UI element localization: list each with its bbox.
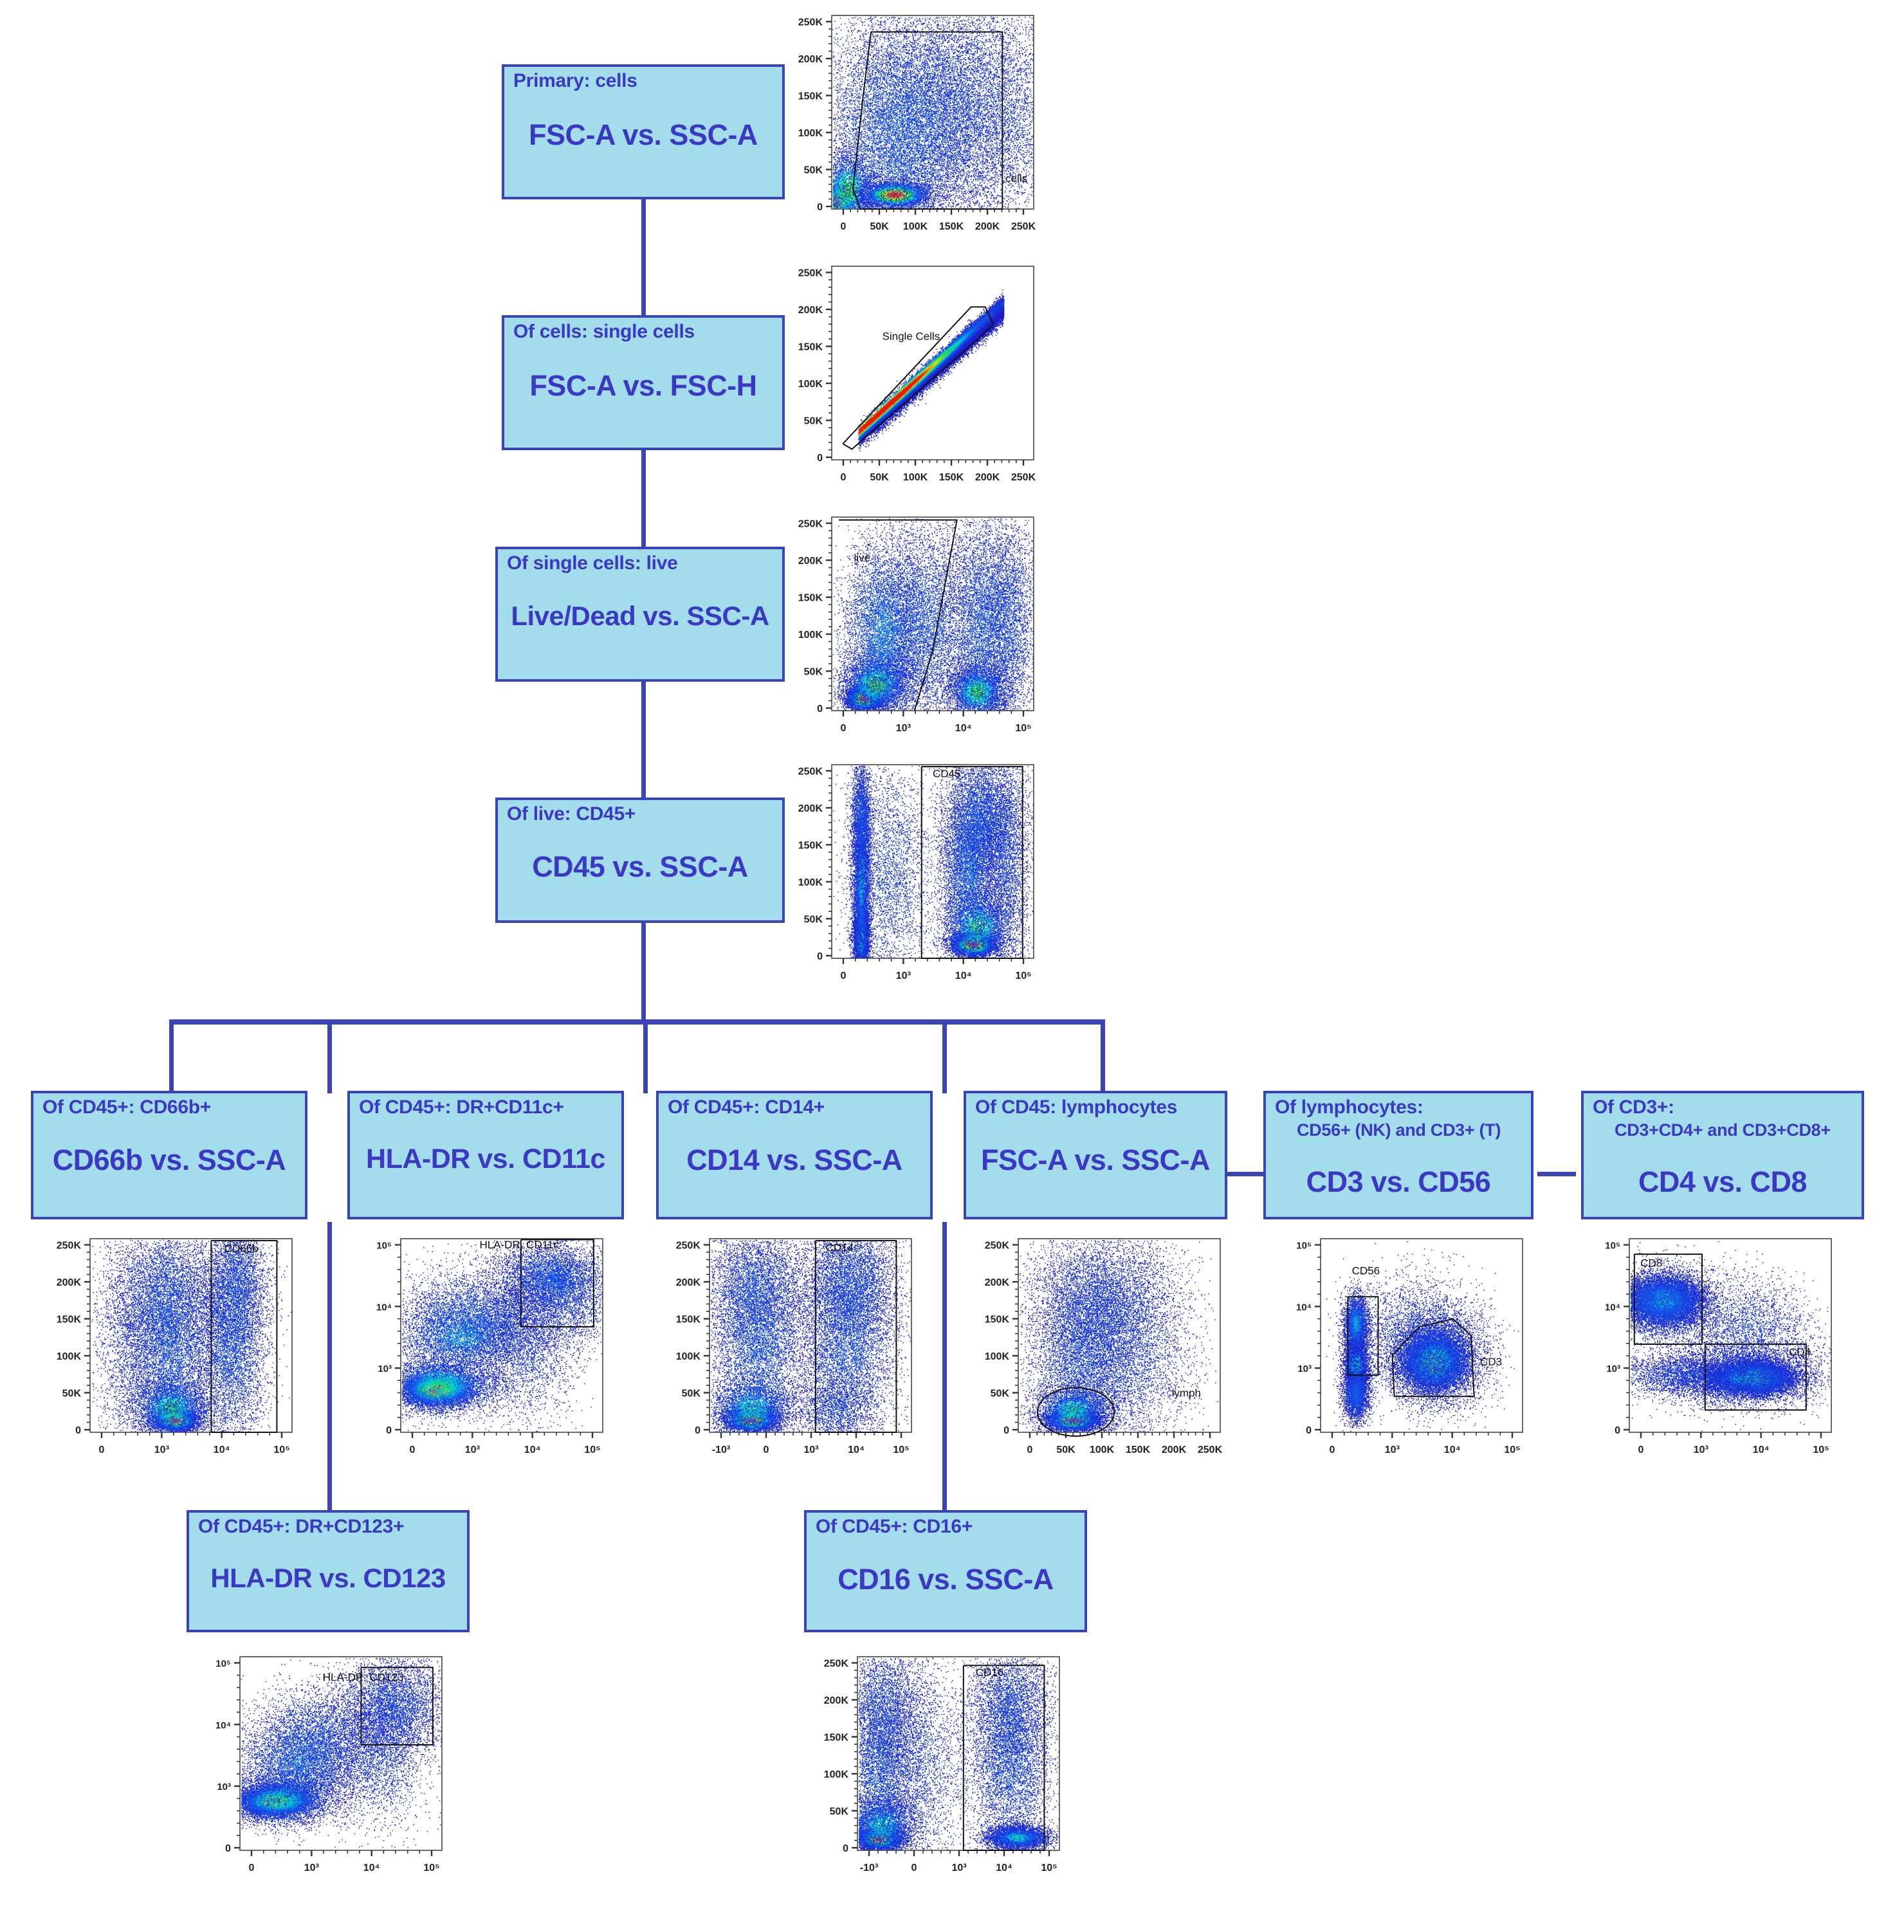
connector-branch-cd14 [643,1019,648,1093]
node-cd16-subtitle: Of CD45+: CD16+ [816,1517,1081,1537]
p_cd4cd8-svg: 010³10⁴10⁵010³10⁴10⁵CD8CD4 [1579,1230,1836,1481]
connector-branch-drcd11c [327,1019,332,1093]
plot-cd45: 050K100K150K200K250K010³10⁴10⁵CD45 [782,756,1039,1007]
node-cd4-cd8-subtitle-line1: Of CD3+: [1593,1097,1674,1118]
p_drcd11c-svg: 010³10⁴10⁵010³10⁴10⁵HLA-DR, CD11c [351,1230,608,1481]
node-cells-subtitle: Primary: cells [513,71,778,91]
svg-text:250K: 250K [1011,221,1036,232]
p_single-svg: 050K100K150K200K250K050K100K150K200K250K… [782,257,1039,508]
connector-branch-lymph [942,1019,947,1093]
node-dr-cd123-subtitle: Of CD45+: DR+CD123+ [198,1517,463,1537]
node-single-cells[interactable]: Of cells: single cells FSC-A vs. FSC-H [502,315,785,450]
node-cd4-cd8-subtitle-line2: CD3+CD4+ and CD3+CD8+ [1615,1121,1858,1140]
plot-cd3cd56: 010³10⁴10⁵010³10⁴10⁵CD56CD3 [1270,1230,1528,1481]
svg-text:250K: 250K [798,17,823,28]
node-live-subtitle: Of single cells: live [507,553,778,574]
node-single-cells-subtitle: Of cells: single cells [513,322,778,342]
node-cd45-title: CD45 vs. SSC-A [498,850,782,884]
node-drcd11c-title: HLA-DR vs. CD11c [350,1144,621,1175]
svg-text:200K: 200K [975,221,1000,232]
node-cd14-title: CD14 vs. SSC-A [659,1144,930,1177]
connector-branch-right [1101,1019,1105,1093]
node-cd3-cd56-subtitle-line2: CD56+ (NK) and CD3+ (T) [1297,1121,1527,1140]
p_drcd123-svg: 010³10⁴10⁵010³10⁴10⁵HLA-DR, CD123 [190,1648,447,1899]
connector-live-to-cd45 [641,682,646,804]
node-lymphocytes[interactable]: Of CD45: lymphocytes FSC-A vs. SSC-A [964,1091,1227,1219]
plot-single: 050K100K150K200K250K050K100K150K200K250K… [782,257,1039,508]
connector-cd14-to-cd16 [942,1222,947,1511]
svg-text:50K: 50K [804,165,823,176]
plot-cd66b: 050K100K150K200K250K010³10⁴10⁵CD66b [40,1230,297,1481]
connector-drcd11c-to-drcd123 [327,1222,332,1511]
connector-cells-to-single [641,199,646,328]
node-cd3-cd56[interactable]: Of lymphocytes: CD56+ (NK) and CD3+ (T) … [1263,1091,1533,1219]
gating-strategy-diagram: Primary: cells FSC-A vs. SSC-A Of cells:… [0,0,1904,1932]
node-cd3-cd56-subtitle-line1: Of lymphocytes: [1275,1097,1423,1118]
svg-text:100K: 100K [798,128,823,139]
connector-cd45-down [641,920,646,1023]
plot-live: 050K100K150K200K250K010³10⁴10⁵live [782,508,1039,759]
node-cd66b-title: CD66b vs. SSC-A [33,1144,305,1177]
node-cd3-cd56-subtitle: Of lymphocytes: CD56+ (NK) and CD3+ (T) [1275,1097,1527,1140]
node-cd14[interactable]: Of CD45+: CD14+ CD14 vs. SSC-A [656,1091,933,1219]
connector-cd3cd56-to-cd4cd8 [1537,1172,1576,1176]
connector-branch-cd66b [169,1019,174,1093]
svg-text:0: 0 [841,221,847,232]
connector-lymph-to-cd3cd56 [1225,1172,1264,1176]
plot-cells: 050K100K150K200K250K050K100K150K200K250K… [782,6,1039,257]
node-dr-cd123[interactable]: Of CD45+: DR+CD123+ HLA-DR vs. CD123 [187,1510,470,1632]
node-single-cells-title: FSC-A vs. FSC-H [504,369,782,403]
p_cd16-svg: 050K100K150K200K250K-10³010³10⁴10⁵CD16 [807,1648,1065,1899]
plot-cd4cd8: 010³10⁴10⁵010³10⁴10⁵CD8CD4 [1579,1230,1836,1481]
p_cd14-svg: 050K100K150K200K250K-10³010³10⁴10⁵CD14 [659,1230,917,1481]
p_cd45-svg: 050K100K150K200K250K010³10⁴10⁵CD45 [782,756,1039,1007]
plot-drcd11c: 010³10⁴10⁵010³10⁴10⁵HLA-DR, CD11c [351,1230,608,1481]
node-cd45-subtitle: Of live: CD45+ [507,804,778,825]
node-dr-cd123-title: HLA-DR vs. CD123 [189,1563,467,1594]
p_cd3cd56-svg: 010³10⁴10⁵010³10⁴10⁵CD56CD3 [1270,1230,1528,1481]
node-lymphocytes-title: FSC-A vs. SSC-A [966,1144,1225,1177]
plot-lymph: 050K100K150K200K250K050K100K150K200K250K… [968,1230,1225,1481]
svg-text:50K: 50K [870,221,889,232]
p_cd66b-svg: 050K100K150K200K250K010³10⁴10⁵CD66b [40,1230,297,1481]
node-cd4-cd8[interactable]: Of CD3+: CD3+CD4+ and CD3+CD8+ CD4 vs. C… [1581,1091,1864,1219]
node-cells[interactable]: Primary: cells FSC-A vs. SSC-A [502,64,785,199]
node-cells-title: FSC-A vs. SSC-A [504,118,782,152]
p_lymph-svg: 050K100K150K200K250K050K100K150K200K250K… [968,1230,1225,1481]
node-cd16-title: CD16 vs. SSC-A [807,1563,1085,1596]
plot-cd14: 050K100K150K200K250K-10³010³10⁴10⁵CD14 [659,1230,917,1481]
svg-text:0: 0 [817,202,823,213]
svg-text:200K: 200K [798,54,823,65]
node-cd66b[interactable]: Of CD45+: CD66b+ CD66b vs. SSC-A [31,1091,307,1219]
node-cd14-subtitle: Of CD45+: CD14+ [668,1097,926,1118]
node-cd3-cd56-title: CD3 vs. CD56 [1266,1165,1531,1199]
plot-cd16: 050K100K150K200K250K-10³010³10⁴10⁵CD16 [807,1648,1065,1899]
node-cd4-cd8-title: CD4 vs. CD8 [1584,1165,1862,1199]
node-cd66b-subtitle: Of CD45+: CD66b+ [42,1097,301,1118]
node-cd45[interactable]: Of live: CD45+ CD45 vs. SSC-A [495,797,785,923]
node-live[interactable]: Of single cells: live Live/Dead vs. SSC-… [495,547,785,682]
connector-branch-bus [169,1019,1105,1025]
node-lymphocytes-subtitle: Of CD45: lymphocytes [975,1097,1221,1118]
node-drcd11c[interactable]: Of CD45+: DR+CD11c+ HLA-DR vs. CD11c [347,1091,624,1219]
node-cd16[interactable]: Of CD45+: CD16+ CD16 vs. SSC-A [804,1510,1087,1632]
node-cd4-cd8-subtitle: Of CD3+: CD3+CD4+ and CD3+CD8+ [1593,1097,1858,1140]
p_cells-svg: 050K100K150K200K250K050K100K150K200K250K… [782,6,1039,257]
svg-text:150K: 150K [939,221,964,232]
plot-drcd123: 010³10⁴10⁵010³10⁴10⁵HLA-DR, CD123 [190,1648,447,1899]
node-live-title: Live/Dead vs. SSC-A [498,601,782,632]
svg-text:100K: 100K [903,221,928,232]
node-drcd11c-subtitle: Of CD45+: DR+CD11c+ [359,1097,618,1118]
p_live-svg: 050K100K150K200K250K010³10⁴10⁵live [782,508,1039,759]
svg-text:150K: 150K [798,91,823,102]
